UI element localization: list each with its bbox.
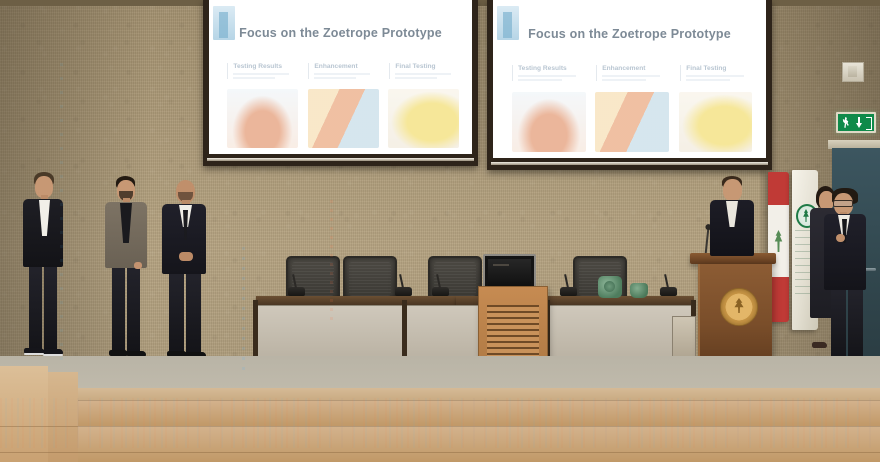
- screen-right-bottom-bar: [491, 162, 768, 165]
- person-standing-center: [155, 178, 213, 366]
- column-heading: Enhancement: [314, 63, 377, 70]
- leg: [831, 288, 846, 360]
- slide-columns-right: Testing Results Enhancement Final Testin…: [512, 65, 752, 81]
- slide-thumbnails-left: [227, 89, 458, 148]
- slide-columns-left: Testing Results Enhancement Final Testin…: [227, 63, 458, 79]
- leg: [186, 272, 201, 354]
- thumbnail-image: [595, 92, 669, 152]
- slide-column: Final Testing: [389, 63, 458, 79]
- monitor-screen: [488, 259, 531, 287]
- screen-right-surface: Focus on the Zoetrope Prototype Testing …: [493, 0, 766, 158]
- slide-thumbnails-right: [512, 92, 752, 152]
- thumbnail-image: [679, 92, 753, 152]
- column-text-line: [395, 73, 451, 75]
- stage-left-step-upper: [0, 366, 48, 462]
- slide-title-left: Focus on the Zoetrope Prototype: [209, 26, 472, 40]
- slide-column: Final Testing: [680, 65, 752, 81]
- column-text-line: [314, 73, 370, 75]
- column-text-line: [314, 77, 356, 79]
- column-text-line: [518, 75, 576, 77]
- column-heading: Final Testing: [395, 63, 458, 70]
- leg: [29, 265, 42, 351]
- exit-arrow-glyph: [855, 117, 863, 128]
- projection-screen-left[interactable]: Focus on the Zoetrope Prototype Testing …: [203, 0, 478, 166]
- head: [723, 179, 742, 201]
- clasped-hands: [179, 252, 193, 261]
- slide-left: Focus on the Zoetrope Prototype Testing …: [209, 0, 472, 154]
- eyeglasses-icon: [833, 200, 853, 207]
- column-text-line: [602, 75, 660, 77]
- slide-column: Testing Results: [227, 63, 296, 79]
- person-standing-left-center: [98, 176, 154, 366]
- column-heading: Testing Results: [518, 65, 584, 72]
- leg: [848, 288, 863, 360]
- panel-table-top-left: [256, 296, 456, 305]
- stage-seam: [0, 452, 880, 453]
- panel-microphone: [560, 287, 577, 296]
- thumbnail-image: [308, 89, 379, 148]
- slide-right: Focus on the Zoetrope Prototype Testing …: [493, 0, 766, 158]
- leg: [169, 272, 184, 354]
- screen-left-surface: Focus on the Zoetrope Prototype Testing …: [209, 0, 472, 154]
- person-standing-left: [14, 172, 70, 366]
- stage-riser-upper: [0, 400, 880, 427]
- column-heading: Enhancement: [602, 65, 668, 72]
- slide-column: Enhancement: [596, 65, 668, 81]
- column-heading: Final Testing: [686, 65, 752, 72]
- panel-table-front: [256, 305, 404, 363]
- speaker-podium: [698, 264, 772, 364]
- auditorium-presentation-scene: Focus on the Zoetrope Prototype Testing …: [0, 0, 880, 462]
- shoe-sole: [24, 353, 44, 355]
- exit-runner-glyph: [842, 117, 850, 128]
- screen-left-bottom-bar: [207, 158, 474, 161]
- column-text-line: [233, 77, 275, 79]
- cedar-tree-icon: [773, 230, 784, 252]
- table-leg: [253, 300, 258, 362]
- person-at-podium: [706, 176, 758, 266]
- lectern-vent-slats: [487, 305, 539, 361]
- column-text-line: [602, 79, 646, 81]
- leg: [44, 265, 57, 351]
- column-text-line: [395, 77, 437, 79]
- panel-microphone: [395, 287, 412, 296]
- thumbnail-image: [227, 89, 298, 148]
- leg: [127, 266, 140, 352]
- wall-speaker-plate-icon: [842, 62, 864, 82]
- green-pot-large: [598, 276, 622, 298]
- column-text-line: [233, 73, 289, 75]
- column-text-line: [518, 79, 562, 81]
- stage-seam: [78, 400, 880, 401]
- exit-door-glyph: [866, 117, 872, 130]
- leg: [112, 266, 125, 352]
- hand: [134, 262, 142, 269]
- thumbnail-image: [388, 89, 459, 148]
- slide-column: Testing Results: [512, 65, 584, 81]
- university-seal-icon: [720, 288, 758, 326]
- thumbnail-image: [512, 92, 586, 152]
- column-text-line: [686, 75, 744, 77]
- stage-seam: [0, 426, 880, 427]
- slide-column: Enhancement: [308, 63, 377, 79]
- person-right-with-glasses: [822, 188, 870, 366]
- column-heading: Testing Results: [233, 63, 296, 70]
- green-pot-small: [630, 283, 648, 298]
- slide-title-right: Focus on the Zoetrope Prototype: [493, 27, 766, 41]
- panel-table-top-right: [546, 296, 694, 305]
- panel-table-front: [406, 305, 480, 363]
- hand: [836, 234, 845, 242]
- stage-riser-lower: [0, 426, 880, 462]
- emergency-exit-icon: [836, 112, 876, 133]
- column-text-line: [686, 79, 730, 81]
- panel-microphone: [288, 287, 305, 296]
- table-leg: [402, 300, 407, 362]
- panel-microphone: [660, 287, 677, 296]
- panel-microphone: [432, 287, 449, 296]
- projection-screen-right[interactable]: Focus on the Zoetrope Prototype Testing …: [487, 0, 772, 170]
